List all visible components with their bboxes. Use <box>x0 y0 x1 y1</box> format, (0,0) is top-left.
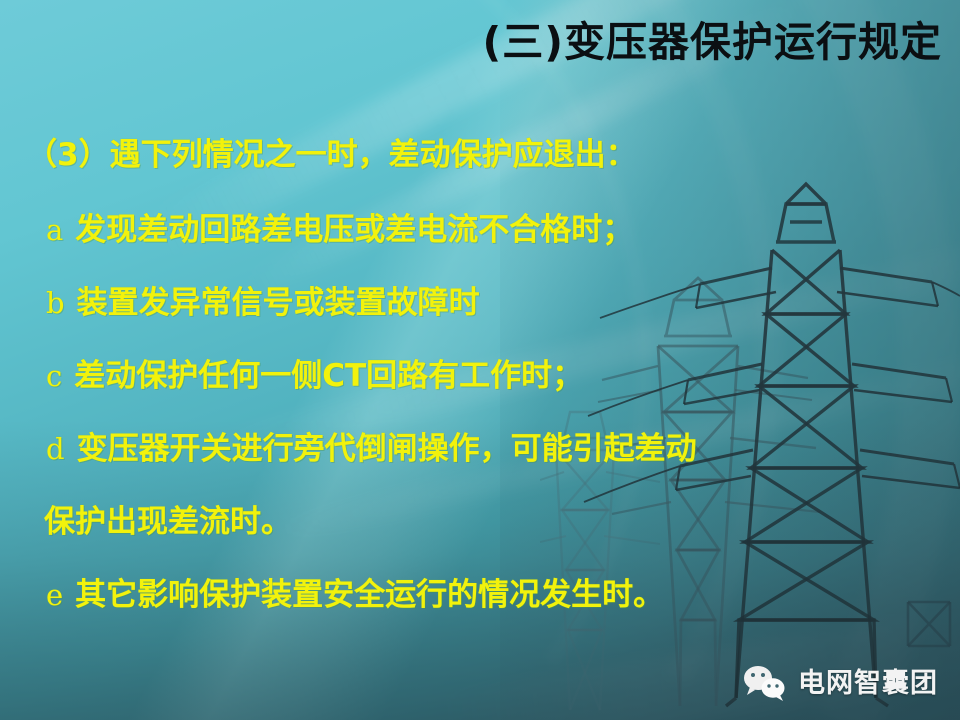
list-item-marker: d <box>46 432 77 466</box>
watermark: 电网智囊团 <box>742 664 938 702</box>
list-item-text: 其它影响保护装置安全运行的情况发生时。 <box>75 577 664 613</box>
list-item: c差动保护任何一侧CT回路有工作时； <box>0 361 960 392</box>
title-bar: (三)变压器保护运行规定 <box>0 0 960 84</box>
list-item: b装置发异常信号或装置故障时 <box>0 288 960 319</box>
list-item-text: 差动保护任何一侧CT回路有工作时； <box>74 358 583 394</box>
wechat-icon <box>742 664 786 702</box>
body-heading: （3）遇下列情况之一时，差动保护应退出： <box>0 140 960 171</box>
list-item: a发现差动回路差电压或差电流不合格时； <box>0 215 960 246</box>
watermark-text: 电网智囊团 <box>798 670 938 697</box>
slide-canvas: (三)变压器保护运行规定 （3）遇下列情况之一时，差动保护应退出： a发现差动回… <box>0 0 960 720</box>
list-item-text: 发现差动回路差电压或差电流不合格时； <box>75 212 633 248</box>
list-item-marker: b <box>46 286 77 320</box>
list-item-continuation: 保护出现差流时。 <box>0 507 960 538</box>
list-item: d变压器开关进行旁代倒闸操作，可能引起差动 <box>0 434 960 465</box>
list-item-marker: c <box>46 359 74 393</box>
list-item-marker: a <box>46 213 75 247</box>
list-item-text: 装置发异常信号或装置故障时 <box>77 285 480 321</box>
slide-body: （3）遇下列情况之一时，差动保护应退出： a发现差动回路差电压或差电流不合格时；… <box>0 140 960 611</box>
list-item: e其它影响保护装置安全运行的情况发生时。 <box>0 580 960 611</box>
list-item-marker: e <box>46 578 75 612</box>
page-title: (三)变压器保护运行规定 <box>483 22 942 63</box>
list-item-text: 变压器开关进行旁代倒闸操作，可能引起差动 <box>77 431 697 467</box>
